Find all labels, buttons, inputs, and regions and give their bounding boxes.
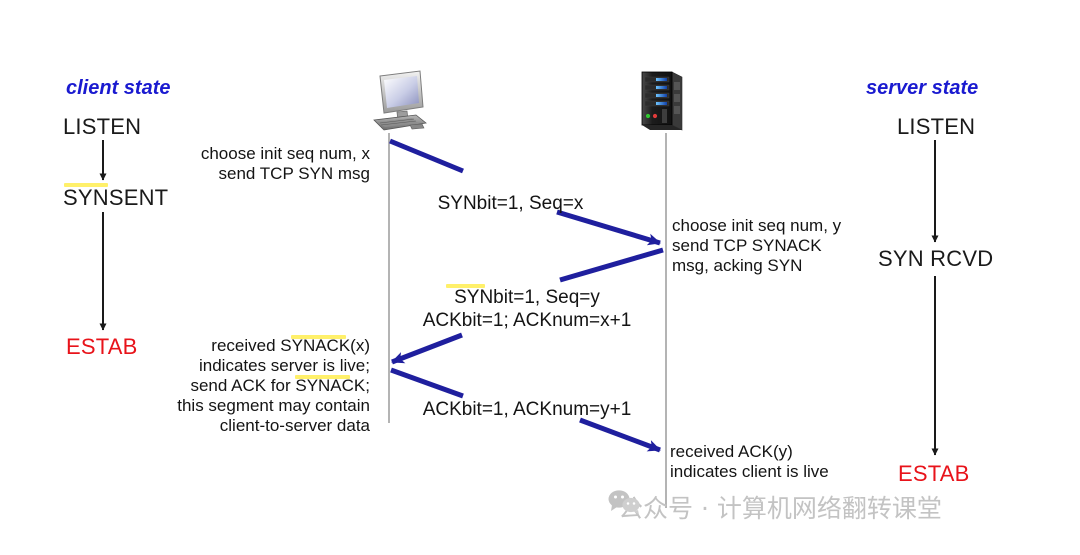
message-label-syn: SYNbit=1, Seq=x xyxy=(403,192,618,215)
message-label-ack: ACKbit=1, ACKnum=y+1 xyxy=(396,398,658,421)
message-label-synack: SYNbit=1, Seq=y ACKbit=1; ACKnum=x+1 xyxy=(396,286,658,332)
highlight-msg-synbit xyxy=(446,284,485,288)
message-arrows xyxy=(0,0,1080,555)
watermark: 公众号 · 计算机网络翻转课堂 xyxy=(608,489,942,525)
watermark-text: 公众号 · 计算机网络翻转课堂 xyxy=(618,489,942,525)
tcp-handshake-diagram: client state LISTEN SYNSENT ESTAB choose… xyxy=(0,0,1080,555)
